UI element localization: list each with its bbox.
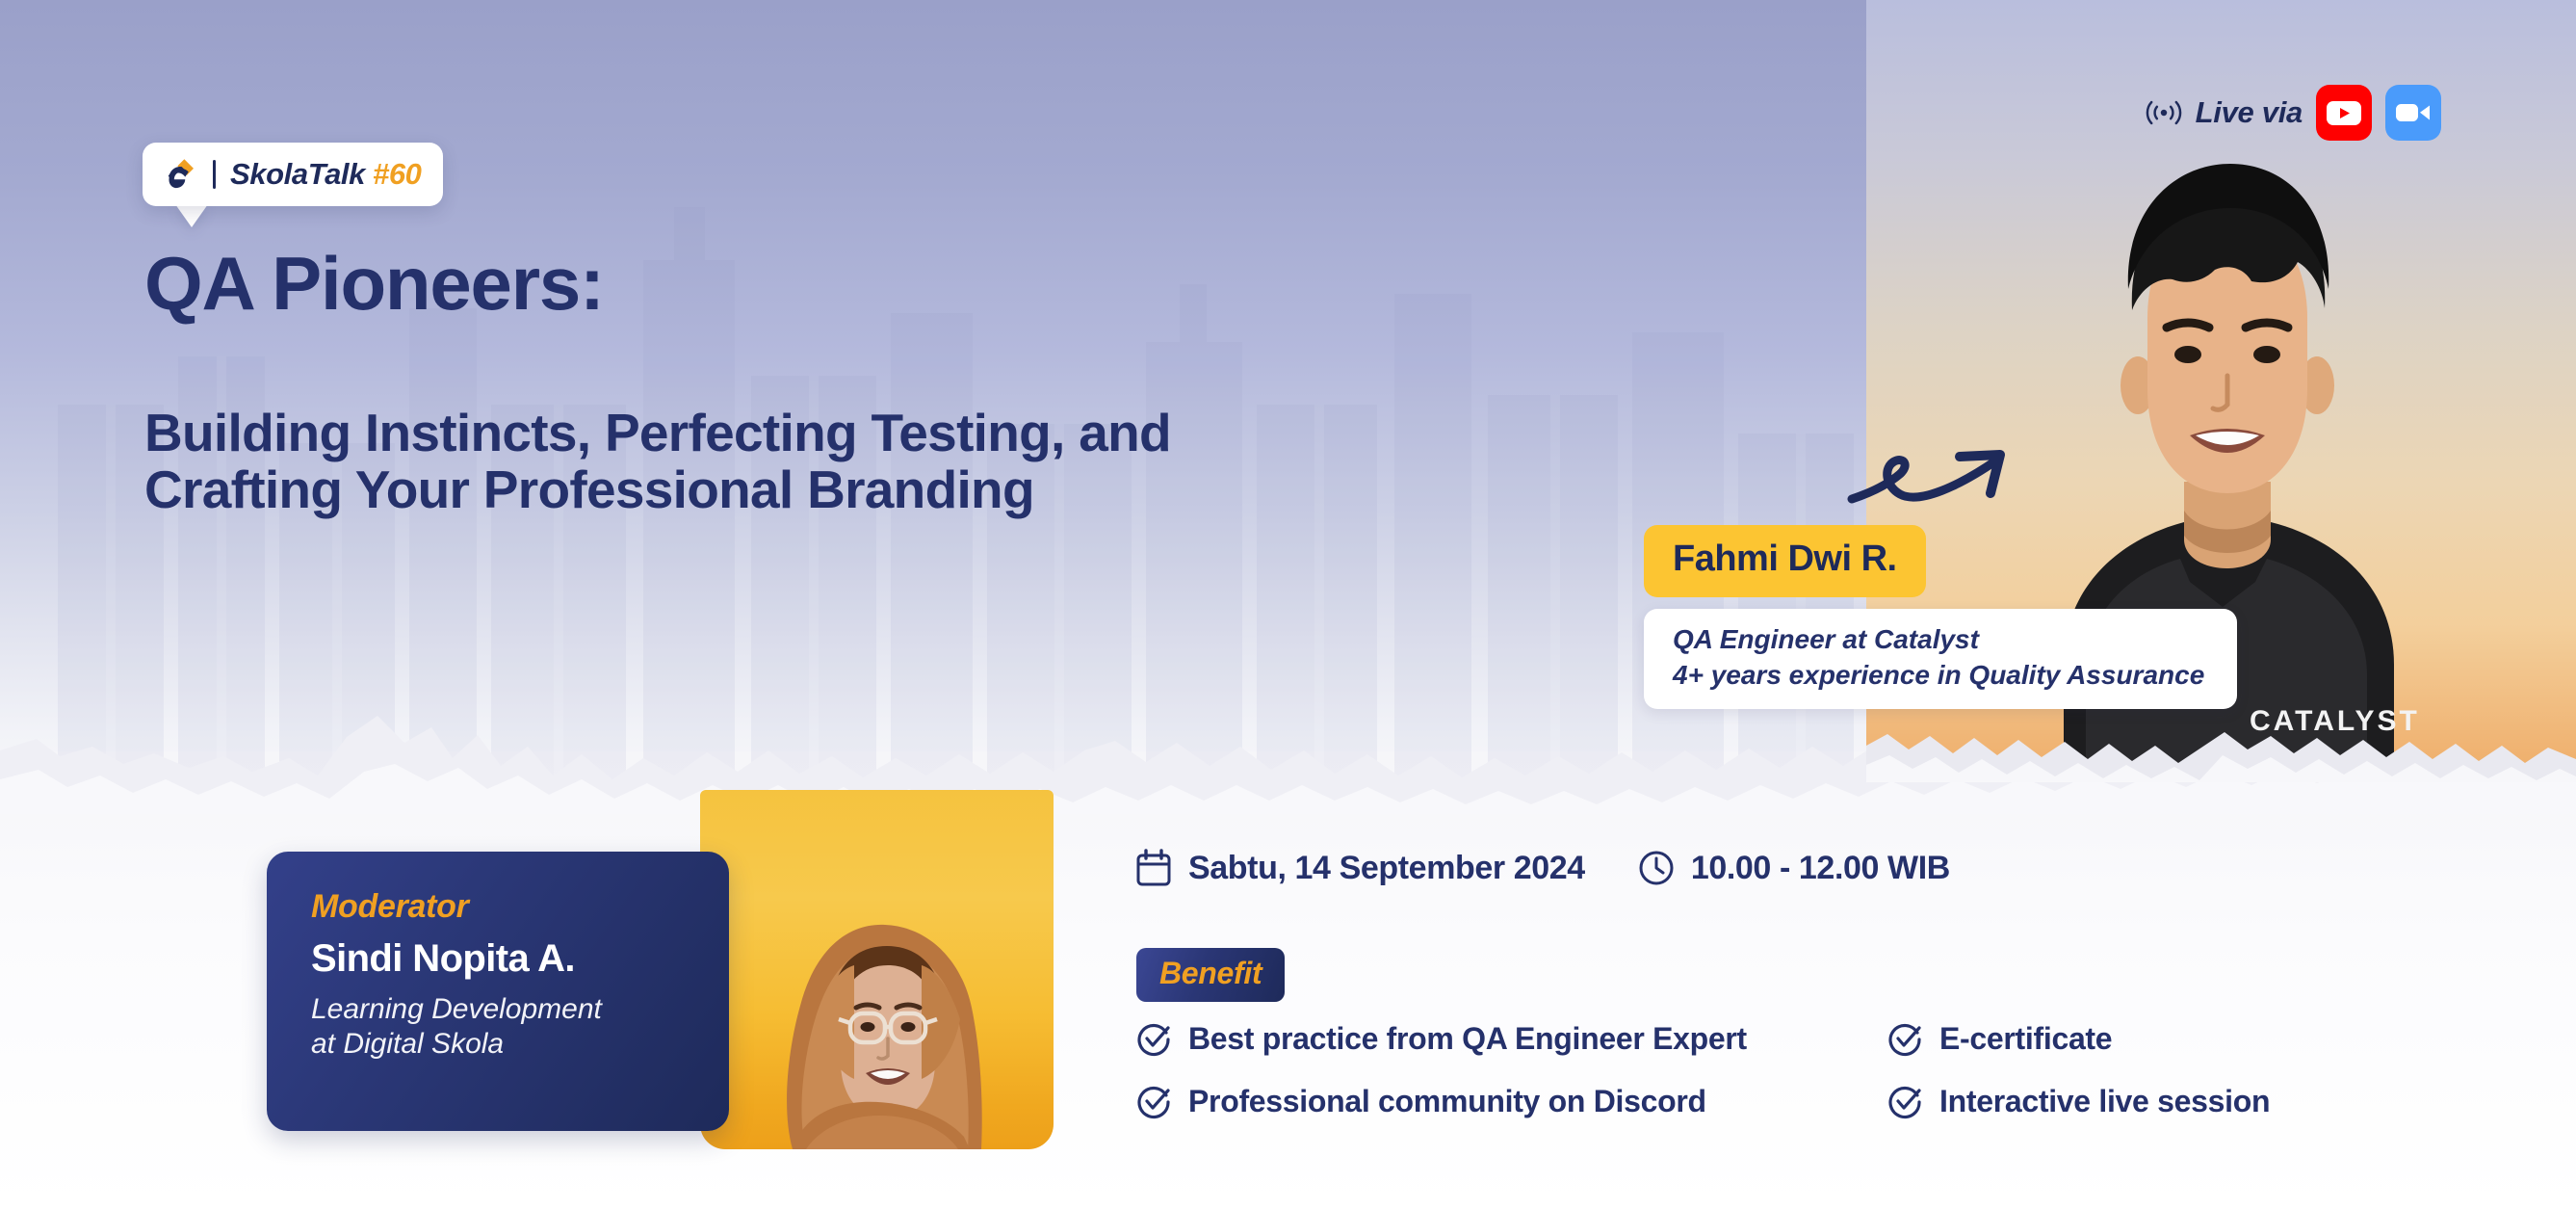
benefit-item: E-certificate <box>1887 1021 2270 1057</box>
check-circle-icon <box>1136 1022 1171 1057</box>
benefit-item-label: Interactive live session <box>1939 1084 2270 1119</box>
benefit-item: Best practice from QA Engineer Expert <box>1136 1021 1887 1057</box>
webinar-banner: SkolaTalk #60 Live via QA Pioneers: B <box>0 0 2576 1209</box>
schedule-row: Sabtu, 14 September 2024 10.00 - 12.00 W… <box>1134 848 1950 888</box>
broadcast-wave-icon <box>2146 96 2182 129</box>
schedule-date-text: Sabtu, 14 September 2024 <box>1188 850 1585 887</box>
moderator-photo-panel <box>700 790 1054 1149</box>
subtitle-line-1: Building Instincts, Perfecting Testing, … <box>144 405 1171 461</box>
benefit-item-label: E-certificate <box>1939 1021 2112 1057</box>
pill-tail <box>175 204 208 227</box>
page-subtitle: Building Instincts, Perfecting Testing, … <box>144 405 1171 518</box>
moderator-portrait <box>700 790 1054 1149</box>
schedule-date: Sabtu, 14 September 2024 <box>1134 848 1585 888</box>
check-circle-icon <box>1887 1085 1922 1119</box>
speaker-name-badge: Fahmi Dwi R. <box>1644 525 1926 597</box>
skolatalk-label: SkolaTalk <box>230 157 365 192</box>
calendar-icon <box>1134 848 1173 888</box>
moderator-role-label: Moderator <box>311 888 690 926</box>
benefit-list: Best practice from QA Engineer Expert E-… <box>1136 1021 2270 1119</box>
live-via-group: Live via <box>2146 85 2441 141</box>
schedule-time: 10.00 - 12.00 WIB <box>1637 848 1950 888</box>
page-title: QA Pioneers: <box>144 246 604 321</box>
check-circle-icon <box>1136 1085 1171 1119</box>
youtube-icon[interactable] <box>2316 85 2372 141</box>
skolatalk-episode-number: #60 <box>373 157 422 192</box>
benefit-badge: Benefit <box>1136 948 1285 1002</box>
moderator-card: Moderator Sindi Nopita A. Learning Devel… <box>267 852 729 1131</box>
zoom-video-icon[interactable] <box>2385 85 2441 141</box>
benefit-item-label: Best practice from QA Engineer Expert <box>1188 1021 1747 1057</box>
speaker-credential-line-1: QA Engineer at Catalyst <box>1673 622 2204 658</box>
moderator-name: Sindi Nopita A. <box>311 937 690 981</box>
digital-skola-logo-icon <box>160 154 200 195</box>
benefit-item: Professional community on Discord <box>1136 1084 1887 1119</box>
moderator-description-line-1: Learning Development <box>311 992 690 1027</box>
speaker-credential-line-2: 4+ years experience in Quality Assurance <box>1673 658 2204 694</box>
live-via-label: Live via <box>2196 95 2303 130</box>
benefit-item-label: Professional community on Discord <box>1188 1084 1706 1119</box>
subtitle-line-2: Crafting Your Professional Branding <box>144 461 1171 518</box>
moderator-description-line-2: at Digital Skola <box>311 1027 690 1062</box>
clock-icon <box>1637 848 1676 888</box>
speaker-credentials-card: QA Engineer at Catalyst 4+ years experie… <box>1644 609 2237 709</box>
pill-divider <box>213 160 216 189</box>
schedule-time-text: 10.00 - 12.00 WIB <box>1691 850 1950 887</box>
skolatalk-badge[interactable]: SkolaTalk #60 <box>143 143 443 206</box>
benefit-item: Interactive live session <box>1887 1084 2270 1119</box>
torn-paper-divider-speaker <box>1866 721 2576 782</box>
check-circle-icon <box>1887 1022 1922 1057</box>
moderator-description: Learning Development at Digital Skola <box>311 992 690 1062</box>
